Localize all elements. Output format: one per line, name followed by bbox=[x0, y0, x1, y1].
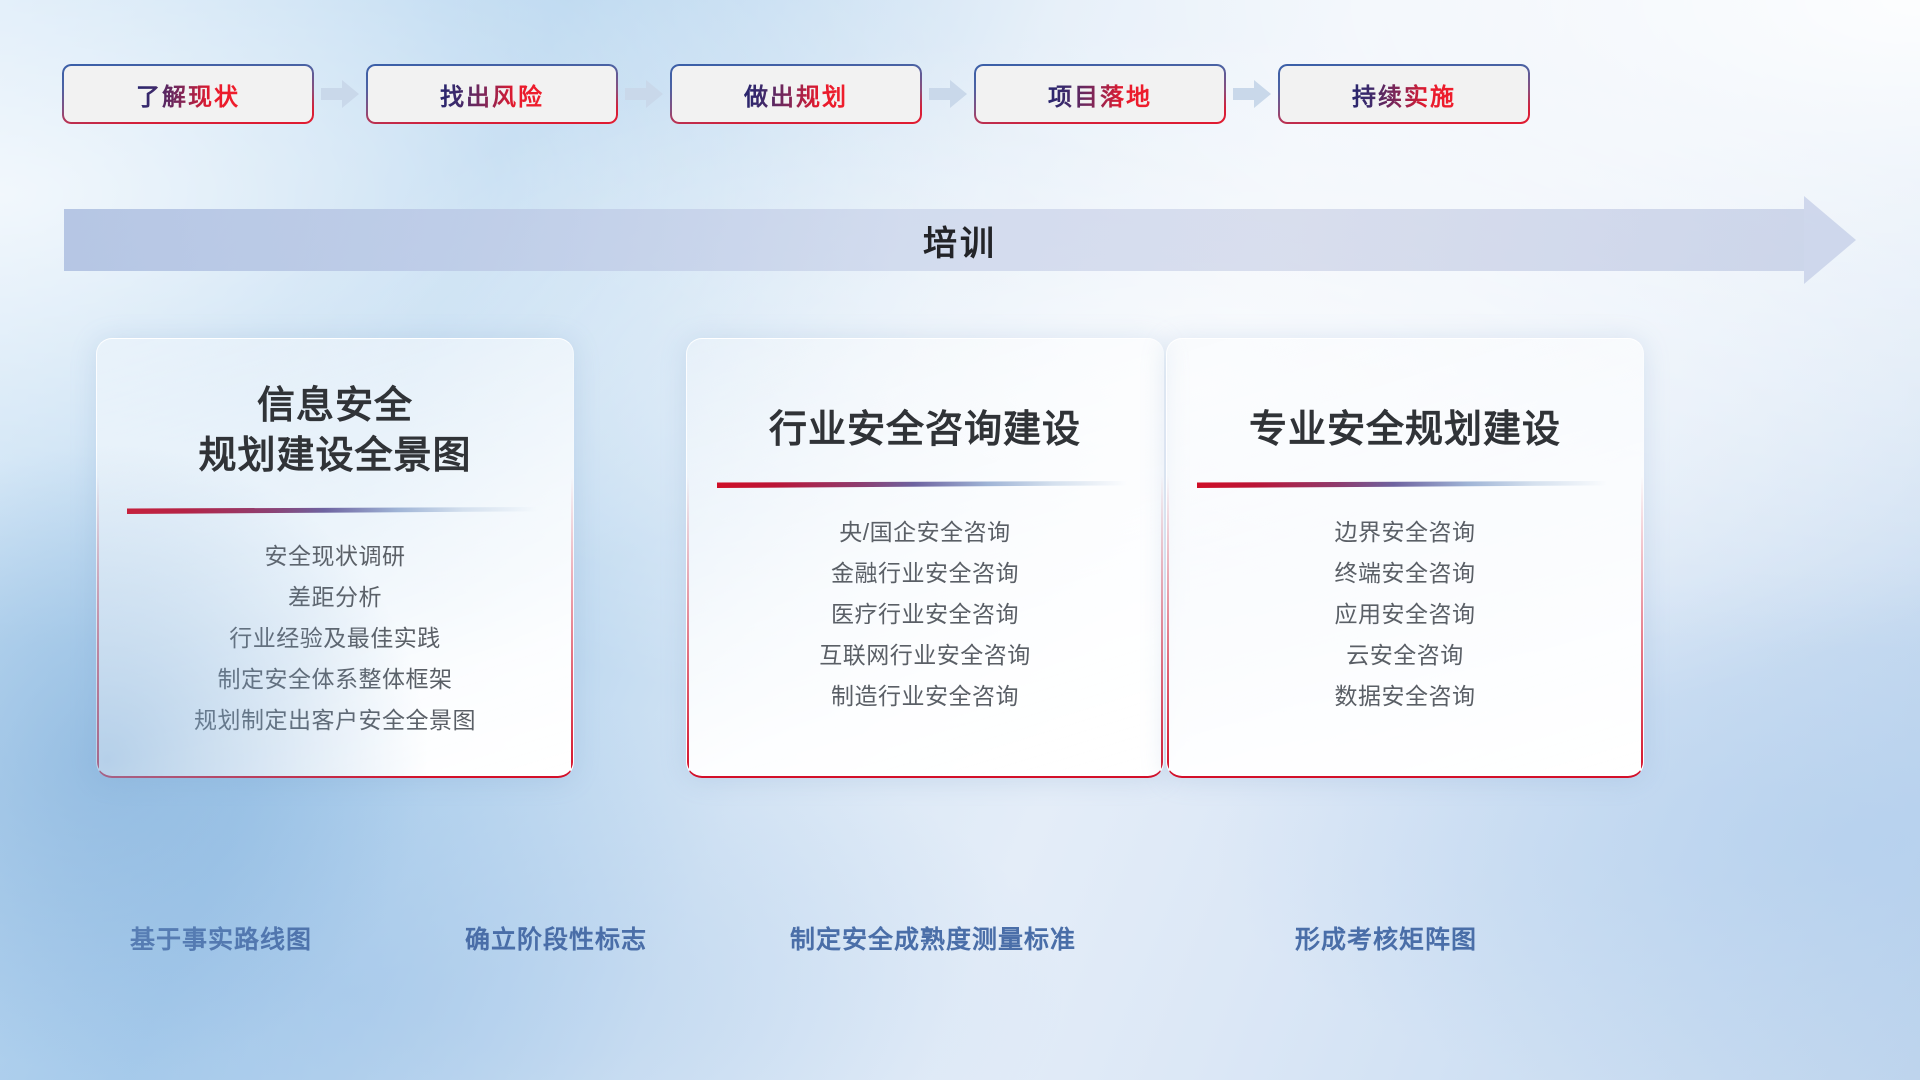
card-title-1-line-2: 规划建设全景图 bbox=[198, 435, 471, 477]
card-list-3: 边界安全咨询 终端安全咨询 应用安全咨询 云安全咨询 数据安全咨询 bbox=[1167, 490, 1643, 717]
list-item: 安全现状调研 bbox=[119, 536, 551, 577]
arrow-right-icon-2 bbox=[618, 64, 670, 124]
card-title-1-line-1: 信息安全 bbox=[257, 385, 413, 427]
list-item: 央/国企安全咨询 bbox=[709, 512, 1141, 553]
card-divider-2 bbox=[717, 481, 1127, 490]
list-item: 边界安全咨询 bbox=[1189, 512, 1621, 553]
training-band-title: 培训 bbox=[64, 209, 1856, 271]
card-title-2: 行业安全咨询建设 bbox=[687, 339, 1163, 455]
step-box-4[interactable]: 项目落地 bbox=[974, 64, 1226, 124]
list-item: 行业经验及最佳实践 bbox=[119, 618, 551, 659]
step-box-3[interactable]: 做出规划 bbox=[670, 64, 922, 124]
caption-4: 形成考核矩阵图 bbox=[1295, 920, 1477, 956]
caption-1: 基于事实路线图 bbox=[130, 920, 312, 956]
card-panorama[interactable]: 信息安全 规划建设全景图 安全现状调研 差距分析 行业经验及最佳实践 制定安全体… bbox=[96, 338, 574, 778]
list-item: 互联网行业安全咨询 bbox=[709, 635, 1141, 676]
step-label-5: 持续实施 bbox=[1352, 77, 1456, 112]
list-item: 医疗行业安全咨询 bbox=[709, 594, 1141, 635]
card-title-1: 信息安全 规划建设全景图 bbox=[97, 339, 573, 481]
step-label-2: 找出风险 bbox=[440, 77, 544, 112]
list-item: 云安全咨询 bbox=[1189, 635, 1621, 676]
caption-2: 确立阶段性标志 bbox=[465, 920, 647, 956]
card-title-3: 专业安全规划建设 bbox=[1167, 339, 1643, 455]
list-item: 制定安全体系整体框架 bbox=[119, 659, 551, 700]
step-box-2[interactable]: 找出风险 bbox=[366, 64, 618, 124]
card-professional-planning[interactable]: 专业安全规划建设 边界安全咨询 终端安全咨询 应用安全咨询 云安全咨询 数据安全… bbox=[1166, 338, 1644, 778]
training-band: 培训 bbox=[64, 209, 1856, 271]
step-box-5[interactable]: 持续实施 bbox=[1278, 64, 1530, 124]
list-item: 应用安全咨询 bbox=[1189, 594, 1621, 635]
list-item: 制造行业安全咨询 bbox=[709, 676, 1141, 717]
slide-canvas: 了解现状 找出风险 做出规划 项目落地 bbox=[0, 0, 1920, 1080]
step-label-3: 做出规划 bbox=[744, 77, 848, 112]
card-list-2: 央/国企安全咨询 金融行业安全咨询 医疗行业安全咨询 互联网行业安全咨询 制造行… bbox=[687, 490, 1163, 717]
list-item: 规划制定出客户安全全景图 bbox=[119, 700, 551, 741]
card-divider-1 bbox=[127, 507, 537, 516]
process-step-flow: 了解现状 找出风险 做出规划 项目落地 bbox=[62, 64, 1858, 124]
arrow-right-icon-3 bbox=[922, 64, 974, 124]
card-divider-3 bbox=[1197, 481, 1607, 490]
list-item: 金融行业安全咨询 bbox=[709, 553, 1141, 594]
step-box-1[interactable]: 了解现状 bbox=[62, 64, 314, 124]
caption-row: 基于事实路线图 确立阶段性标志 制定安全成熟度测量标准 形成考核矩阵图 bbox=[0, 920, 1920, 964]
card-list-1: 安全现状调研 差距分析 行业经验及最佳实践 制定安全体系整体框架 规划制定出客户… bbox=[97, 516, 573, 741]
step-label-1: 了解现状 bbox=[136, 77, 240, 112]
list-item: 数据安全咨询 bbox=[1189, 676, 1621, 717]
card-group: 信息安全 规划建设全景图 安全现状调研 差距分析 行业经验及最佳实践 制定安全体… bbox=[96, 338, 1824, 858]
card-title-3-line-1: 专业安全规划建设 bbox=[1249, 409, 1561, 451]
list-item: 差距分析 bbox=[119, 577, 551, 618]
arrow-right-icon-1 bbox=[314, 64, 366, 124]
card-industry-consulting[interactable]: 行业安全咨询建设 央/国企安全咨询 金融行业安全咨询 医疗行业安全咨询 互联网行… bbox=[686, 338, 1164, 778]
caption-3: 制定安全成熟度测量标准 bbox=[790, 920, 1076, 956]
list-item: 终端安全咨询 bbox=[1189, 553, 1621, 594]
step-label-4: 项目落地 bbox=[1048, 77, 1152, 112]
arrow-right-icon-4 bbox=[1226, 64, 1278, 124]
card-title-2-line-1: 行业安全咨询建设 bbox=[769, 409, 1081, 451]
